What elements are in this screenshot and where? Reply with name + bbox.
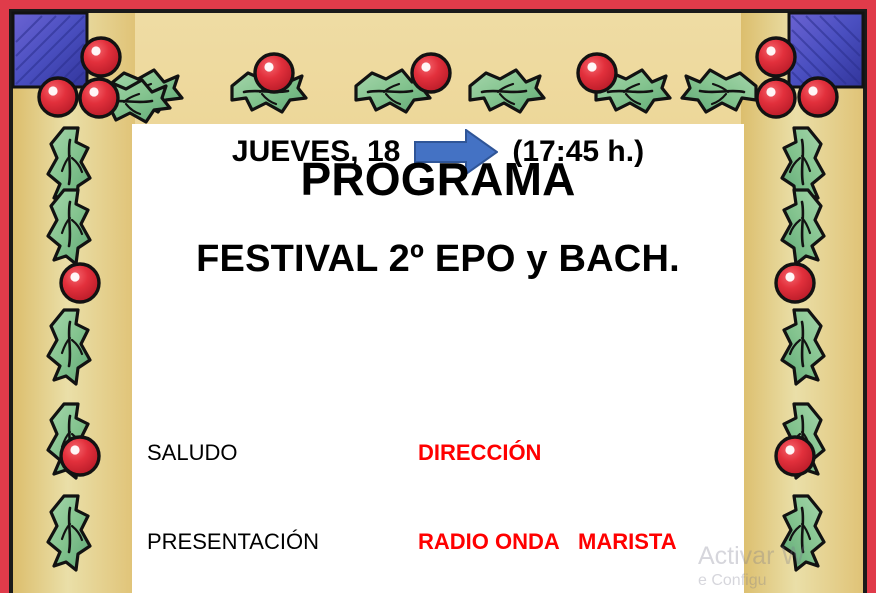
holly-garland-right xyxy=(776,128,824,570)
berry-cluster-top-left xyxy=(39,38,170,122)
corner-square-top-right xyxy=(789,13,863,87)
program-row-value-direccion: DIRECCIÓN xyxy=(418,440,541,466)
program-content: PROGRAMA FESTIVAL 2º EPO y BACH. JUEVES,… xyxy=(135,126,741,593)
berry-cluster-top-right xyxy=(757,38,837,117)
holly-garland-left xyxy=(48,128,99,570)
holly-leaf-left-upper xyxy=(48,190,90,264)
program-row-label-saludo: SALUDO xyxy=(147,440,237,466)
program-row-value-radio-onda: RADIO ONDA xyxy=(418,529,560,555)
holly-garland-top xyxy=(108,54,756,112)
program-row-value-marista: MARISTA xyxy=(578,529,677,555)
page-subtitle: FESTIVAL 2º EPO y BACH. xyxy=(135,238,741,281)
corner-square-top-left xyxy=(13,13,87,87)
page-title: PROGRAMA xyxy=(135,152,741,206)
christmas-program-slide: PROGRAMA FESTIVAL 2º EPO y BACH. JUEVES,… xyxy=(0,0,876,593)
program-row-label-presentacion: PRESENTACIÓN xyxy=(147,529,319,555)
